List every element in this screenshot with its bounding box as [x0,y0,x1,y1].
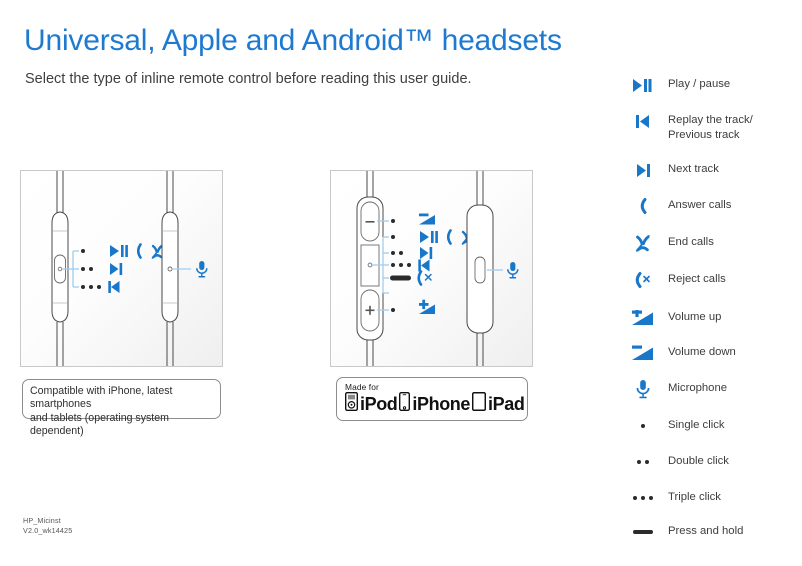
legend-label: Single click [658,417,725,433]
legend-label: Reject calls [658,271,726,287]
reject-call-icon [628,271,658,289]
caption-line-2: and tablets (operating system dependent) [30,412,213,439]
mfi-device-row: iPod iPhone iPad [345,392,519,416]
volume-down-icon [628,344,658,362]
legend-label: Microphone [658,380,727,396]
footer-line-1: HP_Micinst [23,516,72,526]
legend-label: End calls [658,234,714,250]
volume-up-icon-callout [419,300,435,314]
callout-row-single-click [110,245,163,259]
diagram-universal-remote [20,170,223,367]
volume-down-icon [419,214,435,225]
legend-item-triple-click: Triple click [628,489,802,507]
press-hold-icon [628,523,658,541]
microphone-icon [628,380,658,398]
microphone-icon [508,262,518,279]
mfi-device-ipad: iPad [488,394,524,414]
single-click-icon [628,417,658,435]
mfi-device-iphone: iPhone [412,394,470,414]
end-call-icon [628,234,658,252]
legend-label-line1: Replay the track/ [668,114,753,126]
apple-remote-illustration [331,171,532,366]
answer-call-icon [628,197,658,215]
legend-item-previous-track: Replay the track/ Previous track [628,112,802,142]
previous-track-icon-callout [418,260,429,272]
mfi-made-for-label: Made for [345,382,519,392]
microphone-icon [197,261,207,278]
previous-track-icon [628,112,658,130]
legend-item-single-click: Single click [628,417,802,435]
legend-label: Volume down [658,344,736,360]
next-track-icon [628,161,658,179]
caption-apple-mfi-badge: Made for iPod iPhone iPad [336,377,528,421]
callout-row-double-click [110,263,122,275]
legend-item-volume-up: Volume up [628,309,802,327]
next-track-icon-callout [420,247,432,259]
legend-label: Triple click [658,489,721,505]
double-click-icon [628,453,658,471]
legend-label: Volume up [658,309,721,325]
ipad-icon [472,392,486,416]
legend-item-next-track: Next track [628,161,802,179]
footer-line-2: V2.0_wk14425 [23,526,72,536]
legend-item-double-click: Double click [628,453,802,471]
legend-item-end-calls: End calls [628,234,802,252]
page-subtitle: Select the type of inline remote control… [25,71,472,87]
ipod-icon [345,392,358,416]
play-pause-icon [628,76,658,94]
volume-up-icon [628,309,658,327]
caption-universal-remote: Compatible with iPhone, latest smartphon… [22,379,221,419]
legend-item-press-and-hold: Press and hold [628,523,802,541]
legend-label: Play / pause [658,76,730,92]
legend-label: Replay the track/ Previous track [658,112,753,142]
caption-line-1: Compatible with iPhone, latest smartphon… [30,385,213,412]
legend-item-microphone: Microphone [628,380,802,398]
mfi-device-ipod: iPod [360,394,397,414]
callout-row-triple-click [108,281,119,293]
footer-document-code: HP_Micinst V2.0_wk14425 [23,516,72,535]
legend-label-line2: Previous track [668,129,740,141]
legend-item-volume-down: Volume down [628,344,802,362]
legend-label: Press and hold [658,523,743,539]
legend-item-answer-calls: Answer calls [628,197,802,215]
iphone-icon [399,392,410,416]
callout-row-single-click-apple [420,231,473,245]
reject-call-icon-callout [419,272,431,285]
legend-label: Next track [658,161,719,177]
page-title: Universal, Apple and Android™ headsets [24,24,562,58]
legend-label: Double click [658,453,729,469]
legend-item-reject-calls: Reject calls [628,271,802,289]
legend-label: Answer calls [658,197,731,213]
triple-click-icon [628,489,658,507]
diagram-apple-remote [330,170,533,367]
universal-remote-illustration [21,171,222,366]
legend-item-play-pause: Play / pause [628,76,802,94]
